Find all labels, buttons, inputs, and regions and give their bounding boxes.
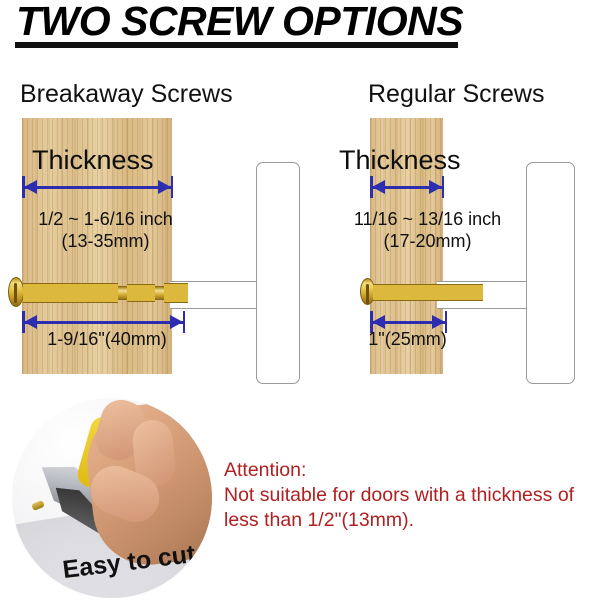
dimension-line bbox=[22, 321, 185, 324]
arrowhead-left-icon bbox=[372, 180, 385, 194]
dimension-tick-end bbox=[171, 176, 174, 198]
arrowhead-right-icon bbox=[429, 180, 442, 194]
arrowhead-left-icon bbox=[24, 315, 37, 329]
attention-line-3: less than 1/2"(13mm). bbox=[224, 508, 596, 533]
poster-canvas: TWO SCREW OPTIONS Breakaway Screws Regul… bbox=[0, 0, 600, 600]
dimension-tick-end bbox=[442, 176, 445, 198]
door-handle-regular bbox=[526, 162, 575, 384]
thickness-label-breakaway: Thickness bbox=[32, 145, 154, 176]
arrowhead-right-icon bbox=[158, 180, 171, 194]
breakaway-screw bbox=[8, 275, 188, 309]
section-heading-breakaway: Breakaway Screws bbox=[20, 80, 233, 109]
screw-head-icon bbox=[8, 277, 24, 307]
breakaway-notch bbox=[118, 286, 127, 300]
attention-title: Attention: bbox=[224, 458, 596, 483]
thickness-value-mm-regular: (17-20mm) bbox=[325, 230, 530, 252]
page-title: TWO SCREW OPTIONS bbox=[16, 0, 463, 45]
length-value-breakaway: 1-9/16"(40mm) bbox=[18, 328, 196, 350]
title-underline bbox=[15, 42, 458, 48]
screw-thread-segment bbox=[373, 284, 483, 301]
thickness-value-inches-regular: 11/16 ~ 13/16 inch bbox=[325, 208, 530, 230]
thickness-value-regular: 11/16 ~ 13/16 inch (17-20mm) bbox=[325, 208, 530, 252]
screw-thread-segment bbox=[23, 283, 118, 303]
breakaway-notch bbox=[155, 286, 164, 300]
pliers-cutting-screw-photo: Easy to cut bbox=[12, 398, 212, 598]
thickness-label-regular: Thickness bbox=[339, 145, 461, 176]
thickness-value-inches-breakaway: 1/2 ~ 1-6/16 inch bbox=[18, 208, 193, 230]
attention-note: Attention: Not suitable for doors with a… bbox=[224, 458, 596, 533]
screw-slot bbox=[366, 284, 369, 304]
length-value-regular: 1"(25mm) bbox=[355, 328, 460, 350]
attention-line-2: Not suitable for doors with a thickness … bbox=[224, 483, 596, 508]
screw-thread-segment bbox=[127, 284, 155, 302]
section-heading-regular: Regular Screws bbox=[368, 80, 544, 109]
thickness-value-mm-breakaway: (13-35mm) bbox=[18, 230, 193, 252]
thickness-dimension-arrow-breakaway bbox=[22, 178, 173, 196]
screw-thread-segment bbox=[164, 283, 188, 303]
arrowhead-left-icon bbox=[24, 180, 37, 194]
regular-screw bbox=[360, 277, 485, 309]
thickness-value-breakaway: 1/2 ~ 1-6/16 inch (13-35mm) bbox=[18, 208, 193, 252]
arrowhead-left-icon bbox=[372, 315, 385, 329]
arrowhead-right-icon bbox=[432, 315, 445, 329]
thickness-dimension-arrow-regular bbox=[370, 178, 444, 196]
dimension-line bbox=[22, 186, 173, 189]
arrowhead-right-icon bbox=[170, 315, 183, 329]
screw-slot bbox=[14, 283, 17, 303]
door-handle-breakaway bbox=[256, 162, 300, 384]
cut-screw-piece bbox=[31, 500, 45, 511]
